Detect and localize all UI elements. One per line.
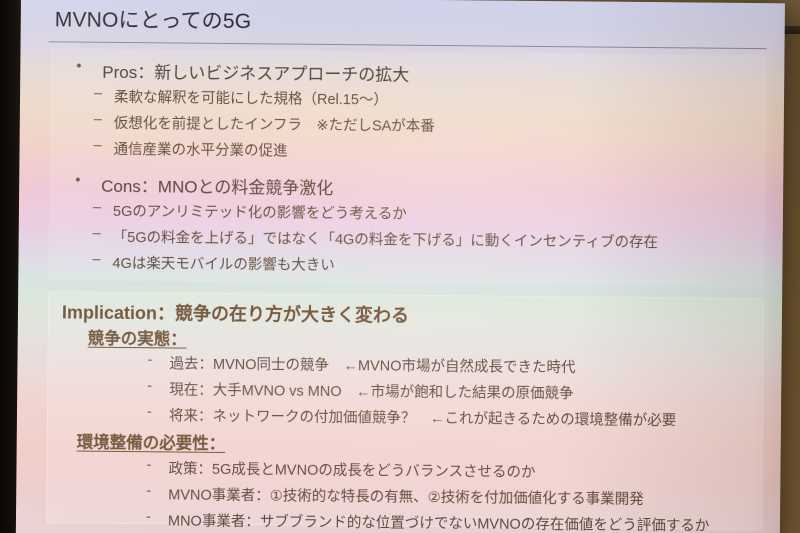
environment-requirements-item-2-text: MVNO事業者：①技術的な特長の有無、②技術を付加価値化する事業開発 <box>168 483 644 509</box>
environment-requirements-item-3: - MNO事業者：サブブランド的な位置づけでないMVNOの存在価値をどう評価する… <box>146 509 710 533</box>
environment-requirements-label: 環境整備の必要性： <box>77 429 226 454</box>
competition-reality-item-3-text: 将来：ネットワークの付加価値競争？ ←これが起きるための環境整備が必要 <box>169 404 676 430</box>
slide-body: • Pros：新しいビジネスアプローチの拡大 – 柔軟な解釈を可能にした規格（R… <box>16 43 785 533</box>
dash-icon: - <box>147 352 169 368</box>
dash-icon: - <box>147 378 169 394</box>
dash-icon: - <box>147 404 169 420</box>
screenshot-root: MVNOにとっての5G • Pros：新しいビジネスアプローチの拡大 – 柔軟な… <box>0 0 800 533</box>
pros-item-3-text: 通信産業の水平分業の促進 <box>113 138 287 161</box>
dash-icon: – <box>93 226 113 242</box>
bullet-icon: • <box>72 57 102 74</box>
pros-item-2: – 仮想化を前提としたインフラ ※ただしSAが本番 <box>94 112 435 136</box>
pros-item-1-text: 柔軟な解釈を可能にした規格（Rel.15〜） <box>114 86 388 110</box>
environment-requirements-item-3-text: MNO事業者：サブブランド的な位置づけでないMVNOの存在価値をどう評価するか <box>168 509 710 533</box>
bullet-icon: • <box>71 171 101 188</box>
slide-title: MVNOにとっての5G <box>55 3 252 35</box>
environment-requirements-item-1: - 政策：5G成長とMVNOの成長をどうバランスさせるのか <box>146 457 535 482</box>
pros-item-2-text: 仮想化を前提としたインフラ ※ただしSAが本番 <box>114 112 435 136</box>
pros-heading: • Pros：新しいビジネスアプローチの拡大 <box>72 57 409 85</box>
implication-box: Implication：競争の在り方が大きく変わる 競争の実態： - 過去：MV… <box>46 291 764 530</box>
cons-item-1-text: 5Gのアンリミテッド化の影響をどう考えるか <box>113 200 407 224</box>
competition-reality-label: 競争の実態： <box>88 325 187 350</box>
projected-slide: MVNOにとっての5G • Pros：新しいビジネスアプローチの拡大 – 柔軟な… <box>16 0 785 533</box>
cons-item-1: – 5Gのアンリミテッド化の影響をどう考えるか <box>93 200 407 224</box>
competition-reality-item-1-text: 過去：MVNO同士の競争 ←MVNO市場が自然成長できた時代 <box>169 352 575 377</box>
dash-icon: - <box>146 509 168 525</box>
cons-item-3-text: 4Gは楽天モバイルの影響も大きい <box>112 252 335 275</box>
cons-item-3: – 4Gは楽天モバイルの影響も大きい <box>92 252 335 275</box>
environment-requirements-item-2: - MVNO事業者：①技術的な特長の有無、②技術を付加価値化する事業開発 <box>146 483 644 509</box>
competition-reality-item-3: - 将来：ネットワークの付加価値競争？ ←これが起きるための環境整備が必要 <box>147 404 676 430</box>
cons-heading-text: Cons：MNOとの料金競争激化 <box>101 172 333 199</box>
dash-icon: – <box>94 86 114 102</box>
dash-icon: – <box>94 112 114 128</box>
dash-icon: – <box>93 138 113 154</box>
competition-reality-item-2-text: 現在：大手MVNO vs MNO ←市場が飽和した結果の原価競争 <box>169 378 574 403</box>
cons-heading: • Cons：MNOとの料金競争激化 <box>71 171 333 199</box>
pros-item-3: – 通信産業の水平分業の促進 <box>93 138 287 161</box>
dash-icon: - <box>146 483 168 499</box>
pros-heading-text: Pros：新しいビジネスアプローチの拡大 <box>102 58 409 86</box>
environment-requirements-item-1-text: 政策：5G成長とMVNOの成長をどうバランスさせるのか <box>168 457 535 482</box>
dash-icon: – <box>92 252 112 268</box>
dash-icon: – <box>93 200 113 216</box>
dash-icon: - <box>146 457 168 473</box>
implication-heading: Implication：競争の在り方が大きく変わる <box>62 298 409 327</box>
competition-reality-item-2: - 現在：大手MVNO vs MNO ←市場が飽和した結果の原価競争 <box>147 378 574 403</box>
competition-reality-item-1: - 過去：MVNO同士の競争 ←MVNO市場が自然成長できた時代 <box>147 352 575 377</box>
pros-item-1: – 柔軟な解釈を可能にした規格（Rel.15〜） <box>94 86 388 110</box>
